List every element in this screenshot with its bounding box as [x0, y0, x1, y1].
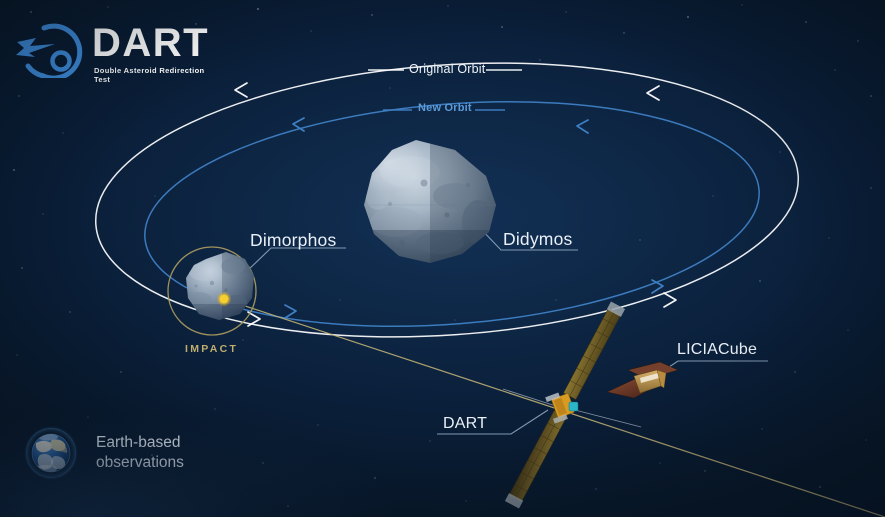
liciacube-label: LICIACube: [677, 341, 757, 359]
earth-observations-line1: Earth-based: [96, 433, 184, 453]
impact-label: IMPACT: [185, 343, 238, 355]
dart-label: DART: [443, 415, 487, 433]
logo-tagline: Double Asteroid Redirection Test: [94, 66, 214, 84]
earth-based-observations: Earth-based observations: [22, 424, 184, 482]
logo-wordmark: DART: [92, 23, 209, 63]
didymos-label: Didymos: [503, 229, 572, 250]
dart-mission-diagram: DART Double Asteroid Redirection Test Or…: [0, 0, 885, 517]
dart-spacecraft-orbit-logo-icon: [14, 22, 88, 78]
original-orbit-label: Original Orbit: [409, 62, 485, 76]
earth-observations-line2: observations: [96, 453, 184, 473]
new-orbit-label: New Orbit: [418, 102, 472, 114]
dimorphos-label: Dimorphos: [250, 230, 336, 251]
liciacube-assembly: [607, 362, 678, 398]
earth-globe-icon: [22, 424, 80, 482]
earth-observations-text: Earth-based observations: [96, 433, 184, 474]
dart-logo: DART Double Asteroid Redirection Test: [14, 18, 214, 80]
